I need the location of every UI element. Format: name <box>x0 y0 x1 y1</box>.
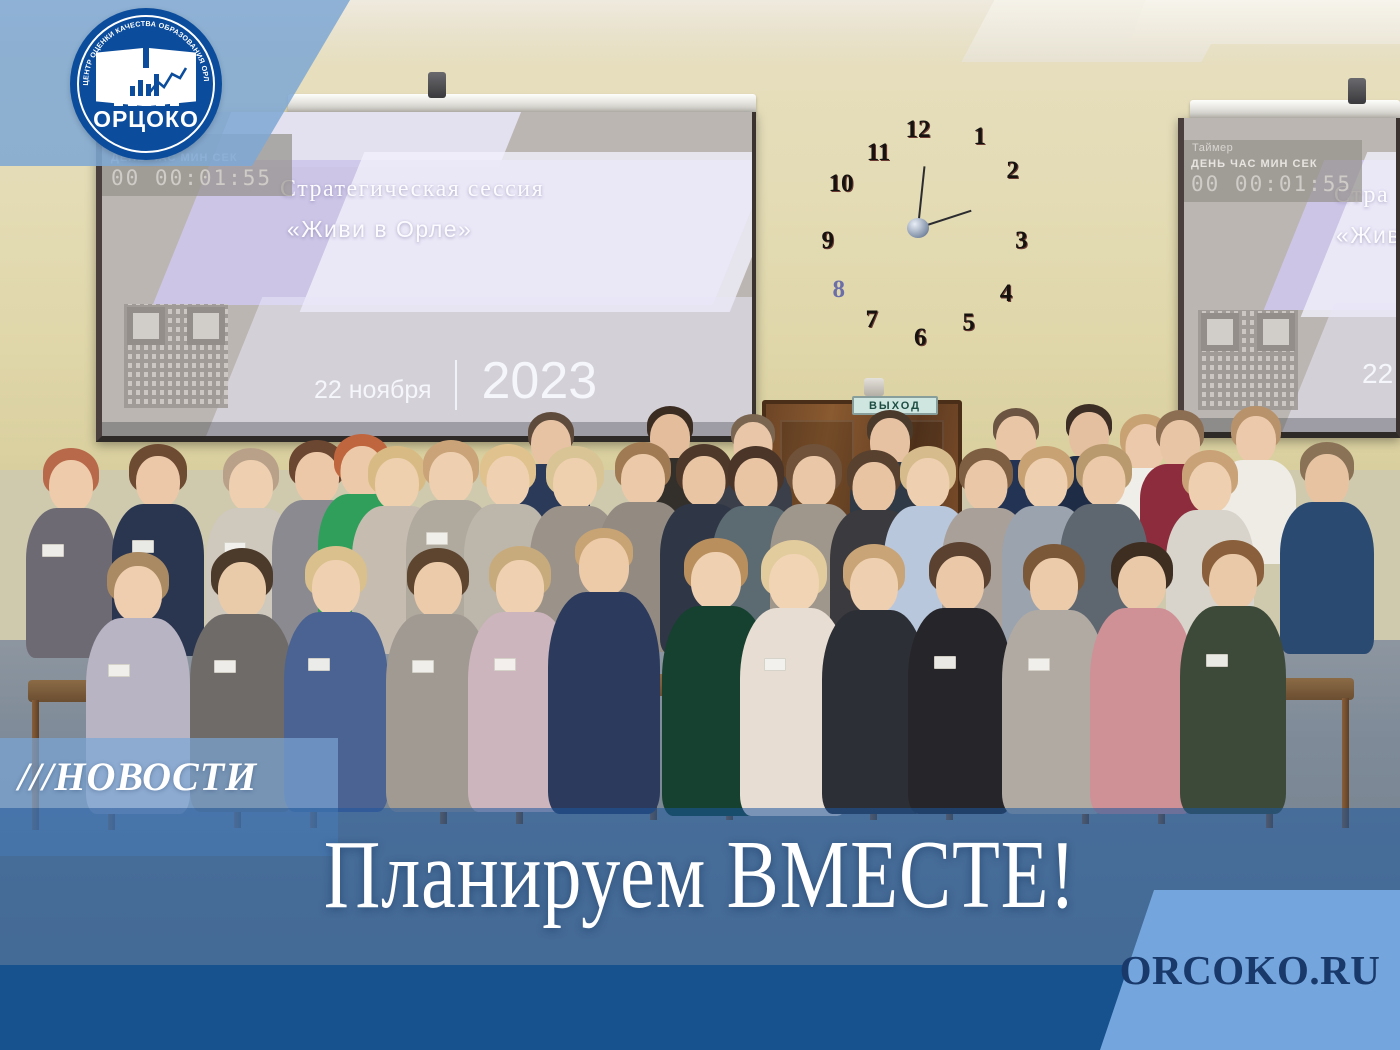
clock-number-6: 6 <box>914 324 927 352</box>
website-url[interactable]: ORCOKO.RU <box>1100 940 1400 1000</box>
category-label: ///НОВОСТИ <box>18 748 338 804</box>
qr-code-right <box>1198 310 1298 410</box>
headline: Планируем ВМЕСТЕ! <box>140 812 1260 937</box>
clock-number-2: 2 <box>1006 157 1019 185</box>
person <box>908 542 1012 812</box>
timer-value-right: 00 00:01:55 <box>1191 172 1352 196</box>
slide-left-title-line2: «Живи в Орле» <box>287 216 472 243</box>
person <box>1090 542 1194 812</box>
news-banner-image: Стратегическая сессия «Живи в Орле» 22 н… <box>0 0 1400 1050</box>
clock-number-10: 10 <box>829 170 854 198</box>
camera-right <box>1348 78 1366 104</box>
person <box>548 528 660 812</box>
ceiling-beam-secondary <box>1129 0 1400 44</box>
wall-clock: 12 1 2 3 4 5 6 7 8 9 10 11 <box>808 118 1028 338</box>
clock-hub <box>907 218 929 238</box>
slide-right: Стра «Жив 22 Таймер ДЕНЬ ЧАС МИН СЕК 00 … <box>1184 118 1396 432</box>
camera-left <box>428 72 446 98</box>
timer-header-right: ДЕНЬ ЧАС МИН СЕК <box>1191 158 1318 170</box>
clock-number-7: 7 <box>866 306 879 334</box>
person <box>1280 442 1374 648</box>
exit-lamp <box>864 378 884 396</box>
slide-right-title-line2: «Жив <box>1336 222 1400 249</box>
orcoko-logo: РЕГИОНАЛЬНЫЙ ЦЕНТР ОЦЕНКИ КАЧЕСТВА ОБРАЗ… <box>70 8 222 160</box>
clock-number-9: 9 <box>822 227 835 255</box>
clock-number-3: 3 <box>1015 227 1028 255</box>
logo-acronym: ОРЦОКО <box>70 106 222 133</box>
slide-left-title-line1: Стратегическая сессия <box>280 176 544 203</box>
clock-number-12: 12 <box>906 116 931 144</box>
clock-number-5: 5 <box>962 309 975 337</box>
timer-caption-right: Таймер <box>1192 142 1233 154</box>
timer-value-left: 00 00:01:55 <box>111 166 272 190</box>
clock-number-8: 8 <box>833 276 846 304</box>
clock-number-11: 11 <box>867 139 891 167</box>
qr-code-left <box>124 304 228 408</box>
logo-trend-icon <box>148 66 188 96</box>
projection-screen-right: Стра «Жив 22 Таймер ДЕНЬ ЧАС МИН СЕК 00 … <box>1178 118 1400 438</box>
clock-number-4: 4 <box>1000 280 1013 308</box>
logo-book-icon <box>96 48 196 106</box>
person <box>1180 540 1286 812</box>
clock-number-1: 1 <box>973 123 986 151</box>
slide-right-date-day: 22 <box>1362 358 1393 390</box>
